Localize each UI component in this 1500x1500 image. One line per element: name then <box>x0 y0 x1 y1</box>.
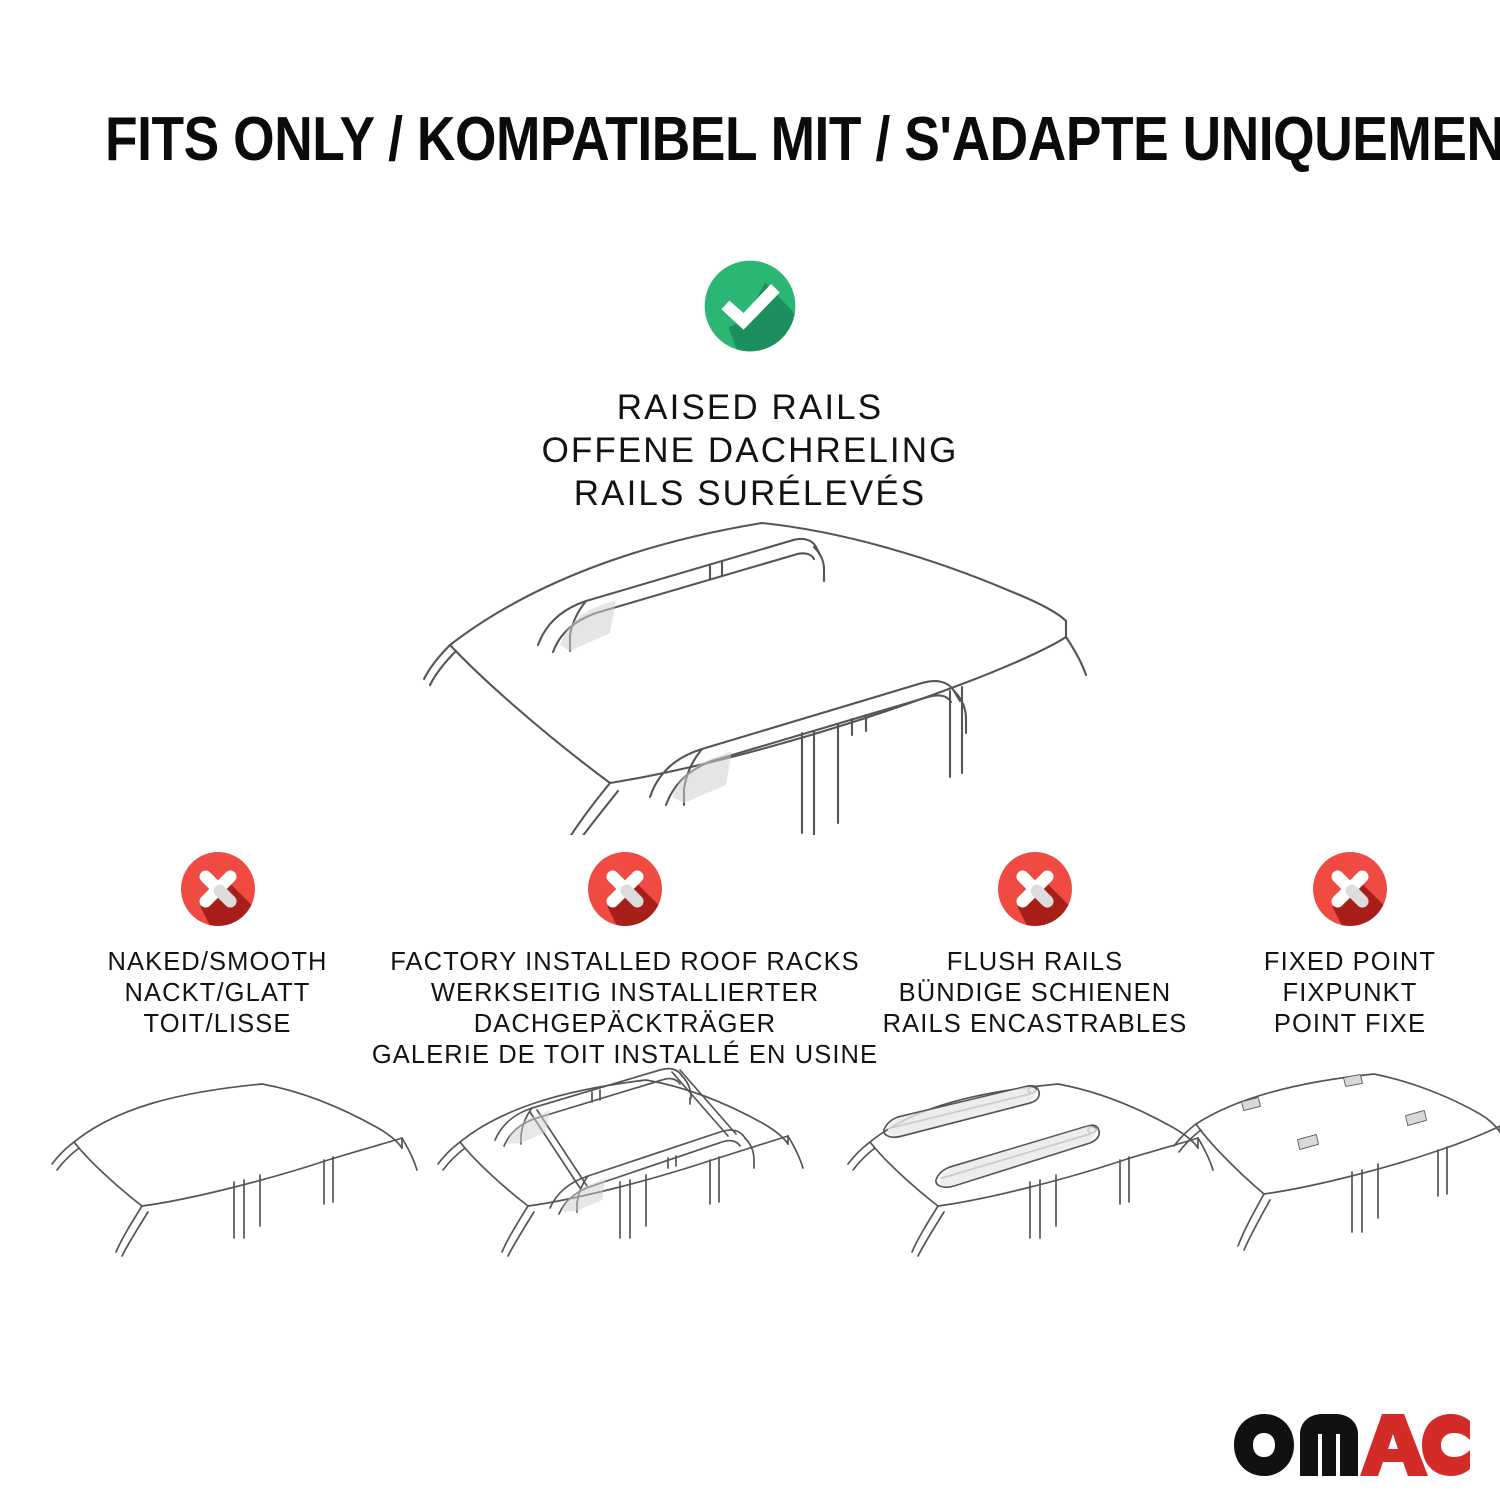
approved-label-de: OFFENE DACHRELING <box>542 429 959 472</box>
approved-label-en: RAISED RAILS <box>542 386 959 429</box>
rejected-label-line: FIXPUNKT <box>1264 978 1436 1009</box>
car-roof-factory-roof-racks-illustration <box>420 1058 812 1284</box>
car-roof-fixed-point-illustration <box>1162 1060 1500 1284</box>
rejected-label-line: BÜNDIGE SCHIENEN <box>883 978 1188 1009</box>
rejected-item-factory-roof-racks: FACTORY INSTALLED ROOF RACKS WERKSEITIG … <box>405 845 845 1071</box>
rejected-label-line: TOIT/LISSE <box>107 1009 327 1040</box>
page-title: FITS ONLY / KOMPATIBEL MIT / S'ADAPTE UN… <box>105 104 1395 175</box>
rejected-labels: FACTORY INSTALLED ROOF RACKS WERKSEITIG … <box>372 947 878 1071</box>
car-roof-with-raised-rails-illustration <box>410 505 1090 835</box>
rejected-label-line: RAILS ENCASTRABLES <box>883 1009 1188 1040</box>
approved-fitment-block: RAISED RAILS OFFENE DACHRELING RAILS SUR… <box>0 252 1500 515</box>
rejected-label-line: NAKED/SMOOTH <box>107 947 327 978</box>
red-x-circle-icon <box>581 845 669 933</box>
rejected-label-line: FIXED POINT <box>1264 947 1436 978</box>
rejected-item-fixed-point: FIXED POINT FIXPUNKT POINT FIXE <box>1215 845 1485 1040</box>
rejected-label-line: NACKT/GLATT <box>107 978 327 1009</box>
rejected-labels: NAKED/SMOOTH NACKT/GLATT TOIT/LISSE <box>107 947 327 1040</box>
rejected-label-line: DACHGEPÄCKTRÄGER <box>372 1009 878 1040</box>
rejected-label-line: FLUSH RAILS <box>883 947 1188 978</box>
red-x-circle-icon <box>174 845 262 933</box>
green-check-circle-icon <box>696 252 804 360</box>
fitment-infographic: FITS ONLY / KOMPATIBEL MIT / S'ADAPTE UN… <box>0 0 1500 1500</box>
rejected-labels: FLUSH RAILS BÜNDIGE SCHIENEN RAILS ENCAS… <box>883 947 1188 1040</box>
rejected-label-line: POINT FIXE <box>1264 1009 1436 1040</box>
red-x-circle-icon <box>991 845 1079 933</box>
omac-logo <box>1232 1412 1472 1478</box>
approved-labels: RAISED RAILS OFFENE DACHRELING RAILS SUR… <box>542 386 959 515</box>
rejected-fitment-row: NAKED/SMOOTH NACKT/GLATT TOIT/LISSE <box>0 845 1500 1075</box>
rejected-labels: FIXED POINT FIXPUNKT POINT FIXE <box>1264 947 1436 1040</box>
car-roof-naked-smooth-illustration <box>38 1062 418 1284</box>
red-x-circle-icon <box>1306 845 1394 933</box>
rejected-item-naked-smooth: NAKED/SMOOTH NACKT/GLATT TOIT/LISSE <box>30 845 405 1040</box>
rejected-item-flush-rails: FLUSH RAILS BÜNDIGE SCHIENEN RAILS ENCAS… <box>850 845 1220 1040</box>
rejected-label-line: FACTORY INSTALLED ROOF RACKS <box>372 947 878 978</box>
rejected-label-line: WERKSEITIG INSTALLIERTER <box>372 978 878 1009</box>
